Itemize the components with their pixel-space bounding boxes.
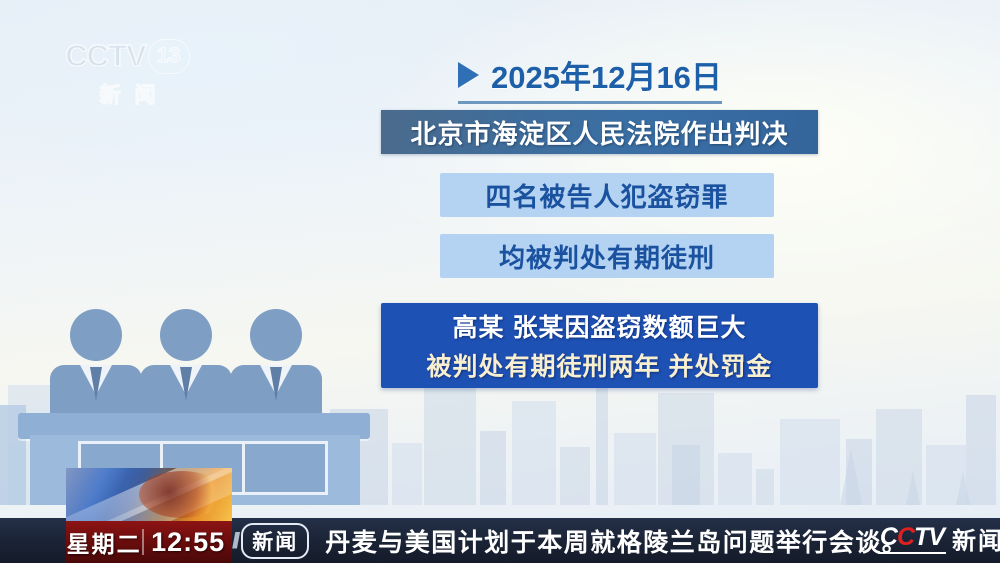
weekday-label: 星期二 (66, 525, 142, 559)
cctv-logo-tv: TV (914, 523, 944, 551)
headline-bar-4-line2: 被判处有期徒刑两年 并处罚金 (427, 347, 773, 383)
slash-decoration-icon: // (232, 528, 236, 554)
headline-bar-1: 北京市海淀区人民法院作出判决 (381, 110, 818, 154)
judge-body (230, 365, 322, 417)
watermark-subtitle: 新闻 (60, 79, 195, 109)
cctv-logo-c1: C (880, 523, 897, 551)
headline-bar-1-text: 北京市海淀区人民法院作出判决 (410, 114, 788, 151)
clock-block: 星期二 12:55 (66, 468, 232, 563)
judge-body (140, 365, 232, 417)
date-header: 2025年12月16日 (458, 52, 722, 104)
date-label: 2025年12月16日 (491, 52, 722, 97)
headline-bar-2-text: 四名被告人犯盗窃罪 (485, 177, 728, 214)
headline-bar-2: 四名被告人犯盗窃罪 (440, 173, 774, 217)
cctv-logo-text: CCTV (878, 523, 946, 554)
broadcast-screen: CCTV 13 新闻 2025年12月16日 北京市海淀区人民法院作出判决 四名… (0, 0, 1000, 563)
bench-panel (242, 441, 328, 495)
watermark-channel-number: 13 (148, 39, 190, 74)
play-triangle-icon (458, 62, 479, 88)
headline-bar-4: 高某 张某因盗窃数额巨大 被判处有期徒刑两年 并处罚金 (381, 303, 818, 388)
ticker-headline-text: 丹麦与美国计划于本周就格陵兰岛问题举行会谈。 (325, 523, 908, 559)
ticker-badge-label: 新闻 (241, 523, 309, 559)
cctv-logo-c2: C (897, 523, 914, 551)
judge-head (160, 309, 212, 361)
cctv-news-logo: CCTV 新闻 (878, 521, 1000, 556)
judge-figure (140, 309, 232, 417)
clock-bar: 星期二 12:55 (66, 521, 232, 563)
globe-graphic (66, 468, 232, 521)
judge-body (50, 365, 142, 417)
ticker-news-badge: // 新闻 (232, 523, 309, 559)
judge-tie (90, 367, 102, 401)
judge-head (70, 309, 122, 361)
judge-figure (50, 309, 142, 417)
cctv13-watermark-logo: CCTV 13 新闻 (60, 38, 195, 110)
judge-figure (230, 309, 322, 417)
headline-bar-3-text: 均被判处有期徒刑 (499, 238, 715, 275)
judge-tie (180, 367, 192, 401)
headline-bar-4-line1: 高某 张某因盗窃数额巨大 (453, 308, 747, 344)
time-label: 12:55 (144, 527, 232, 558)
judge-tie (270, 367, 282, 401)
headline-bar-3: 均被判处有期徒刑 (440, 234, 774, 278)
judge-head (250, 309, 302, 361)
watermark-cctv-text: CCTV (65, 38, 145, 74)
cctv-logo-subtitle: 新闻 (952, 521, 1000, 556)
